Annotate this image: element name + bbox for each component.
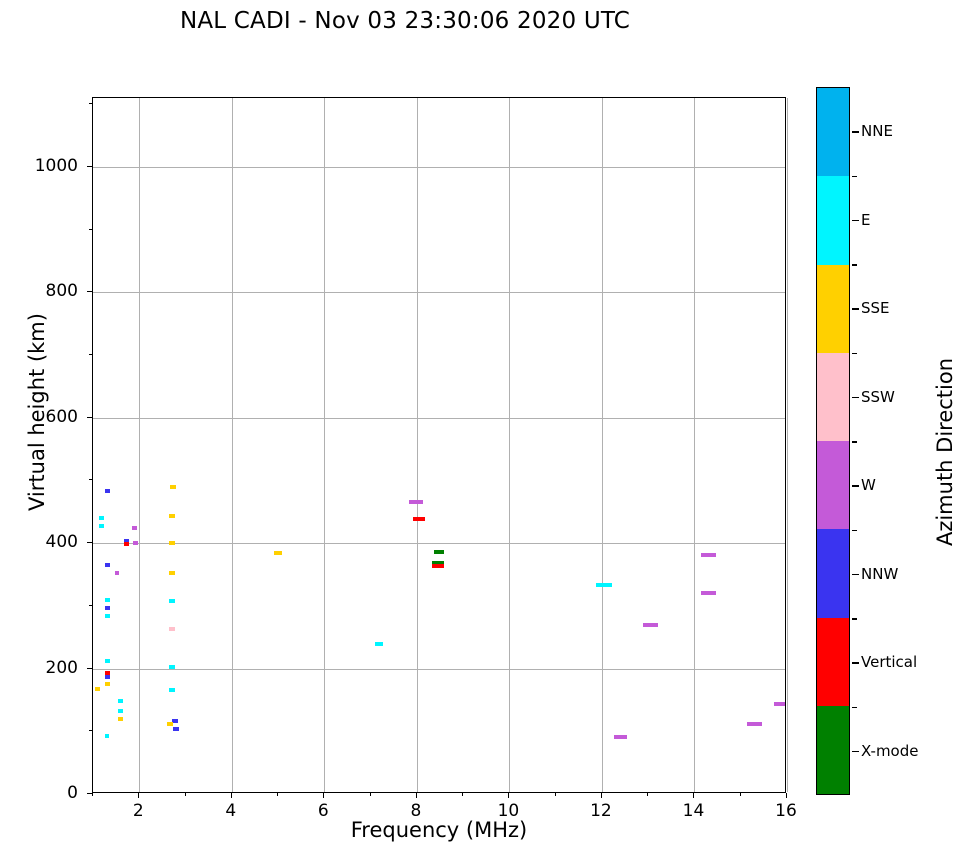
data-marker [169, 541, 175, 545]
data-marker [774, 702, 785, 706]
data-marker [701, 591, 716, 595]
colorbar-segment-x-mode [817, 706, 849, 794]
y-axis-tick [87, 166, 92, 167]
colorbar-boundary-tick [852, 176, 857, 178]
ionogram-figure: NAL CADI - Nov 03 23:30:06 2020 UTC 2468… [0, 0, 958, 857]
y-axis-minor-tick [89, 730, 92, 731]
data-marker [105, 606, 110, 610]
y-axis-minor-tick [89, 354, 92, 355]
data-marker [701, 553, 716, 557]
y-axis-minor-tick [89, 229, 92, 230]
y-axis-tick [87, 542, 92, 543]
colorbar-segment-e [817, 176, 849, 264]
colorbar-segment-w [817, 441, 849, 529]
page-title: NAL CADI - Nov 03 23:30:06 2020 UTC [0, 8, 810, 34]
data-marker [173, 727, 179, 731]
colorbar-tick [852, 131, 859, 133]
y-axis-tick [87, 668, 92, 669]
data-marker [105, 675, 110, 679]
colorbar-boundary-tick [852, 707, 857, 709]
y-axis-label: Virtual height (km) [25, 287, 49, 537]
data-marker [99, 516, 104, 520]
gridline-vertical [787, 98, 788, 792]
data-marker [596, 583, 612, 587]
colorbar-tick [852, 220, 859, 222]
colorbar-boundary-tick [852, 530, 857, 532]
y-axis-tick-label: 1000 [18, 156, 78, 176]
x-axis-minor-tick [740, 793, 741, 796]
data-marker [409, 500, 423, 504]
data-marker [413, 517, 425, 521]
colorbar-label-sse: SSE [861, 299, 890, 317]
data-marker [105, 734, 110, 738]
data-marker [105, 489, 110, 493]
x-axis-minor-tick [370, 793, 371, 796]
data-marker [105, 563, 110, 567]
colorbar-tick [852, 485, 859, 487]
x-axis-tick [601, 793, 602, 798]
data-marker [105, 598, 110, 602]
data-marker [614, 735, 628, 739]
colorbar-segment-ssw [817, 353, 849, 441]
plot-area [92, 97, 786, 793]
data-marker [167, 722, 173, 726]
y-axis-minor-tick [89, 103, 92, 104]
colorbar-label-nnw: NNW [861, 565, 898, 583]
data-marker [434, 550, 444, 554]
data-marker [747, 722, 762, 726]
x-axis-minor-tick [647, 793, 648, 796]
colorbar-segment-vertical [817, 618, 849, 706]
data-marker [274, 551, 281, 555]
x-axis-minor-tick [555, 793, 556, 796]
x-axis-tick [416, 793, 417, 798]
colorbar-label-nne: NNE [861, 122, 893, 140]
colorbar-tick [852, 751, 859, 753]
x-axis-tick [786, 793, 787, 798]
data-marker [169, 514, 175, 518]
data-marker [133, 541, 138, 545]
data-marker [115, 571, 120, 575]
x-axis-tick [138, 793, 139, 798]
x-axis-tick [231, 793, 232, 798]
y-axis-tick-label: 200 [18, 658, 78, 678]
data-marker [170, 485, 176, 489]
data-markers-layer [93, 98, 785, 792]
data-marker [169, 665, 175, 669]
data-marker [169, 599, 175, 603]
colorbar-boundary-tick [852, 264, 857, 266]
x-axis-tick [323, 793, 324, 798]
data-marker [118, 699, 123, 703]
data-marker [169, 627, 175, 631]
data-marker [105, 671, 110, 675]
colorbar-tick [852, 574, 859, 576]
y-axis-tick [87, 417, 92, 418]
y-axis-tick-label: 0 [18, 783, 78, 803]
colorbar-segment-nnw [817, 529, 849, 617]
data-marker [375, 642, 383, 646]
colorbar-boundary-tick [852, 618, 857, 620]
colorbar-tick [852, 662, 859, 664]
data-marker [105, 659, 110, 663]
colorbar-label-vertical: Vertical [861, 653, 917, 671]
x-axis-minor-tick [277, 793, 278, 796]
x-axis-tick [508, 793, 509, 798]
colorbar-label-w: W [861, 476, 876, 494]
y-axis-tick [87, 291, 92, 292]
data-marker [124, 542, 129, 546]
x-axis-tick [693, 793, 694, 798]
x-axis-label: Frequency (MHz) [92, 818, 786, 842]
data-marker [118, 709, 123, 713]
data-marker [99, 524, 104, 528]
data-marker [105, 614, 110, 618]
data-marker [105, 682, 110, 686]
x-axis-minor-tick [185, 793, 186, 796]
colorbar [816, 87, 850, 795]
colorbar-tick [852, 397, 859, 399]
colorbar-label-ssw: SSW [861, 388, 895, 406]
colorbar-tick [852, 308, 859, 310]
y-axis-minor-tick [89, 479, 92, 480]
colorbar-boundary-tick [852, 353, 857, 355]
colorbar-segment-nne [817, 88, 849, 176]
data-marker [95, 687, 100, 691]
colorbar-boundary-tick [852, 441, 857, 443]
data-marker [643, 623, 658, 627]
data-marker [172, 719, 178, 723]
data-marker [118, 717, 123, 721]
data-marker [432, 564, 444, 568]
colorbar-label-x-mode: X-mode [861, 742, 918, 760]
colorbar-segment-sse [817, 265, 849, 353]
x-axis-minor-tick [92, 793, 93, 796]
y-axis-minor-tick [89, 605, 92, 606]
data-marker [169, 688, 175, 692]
colorbar-label-e: E [861, 211, 870, 229]
data-marker [169, 571, 175, 575]
colorbar-label: Azimuth Direction [933, 327, 957, 577]
x-axis-minor-tick [462, 793, 463, 796]
data-marker [132, 526, 137, 530]
